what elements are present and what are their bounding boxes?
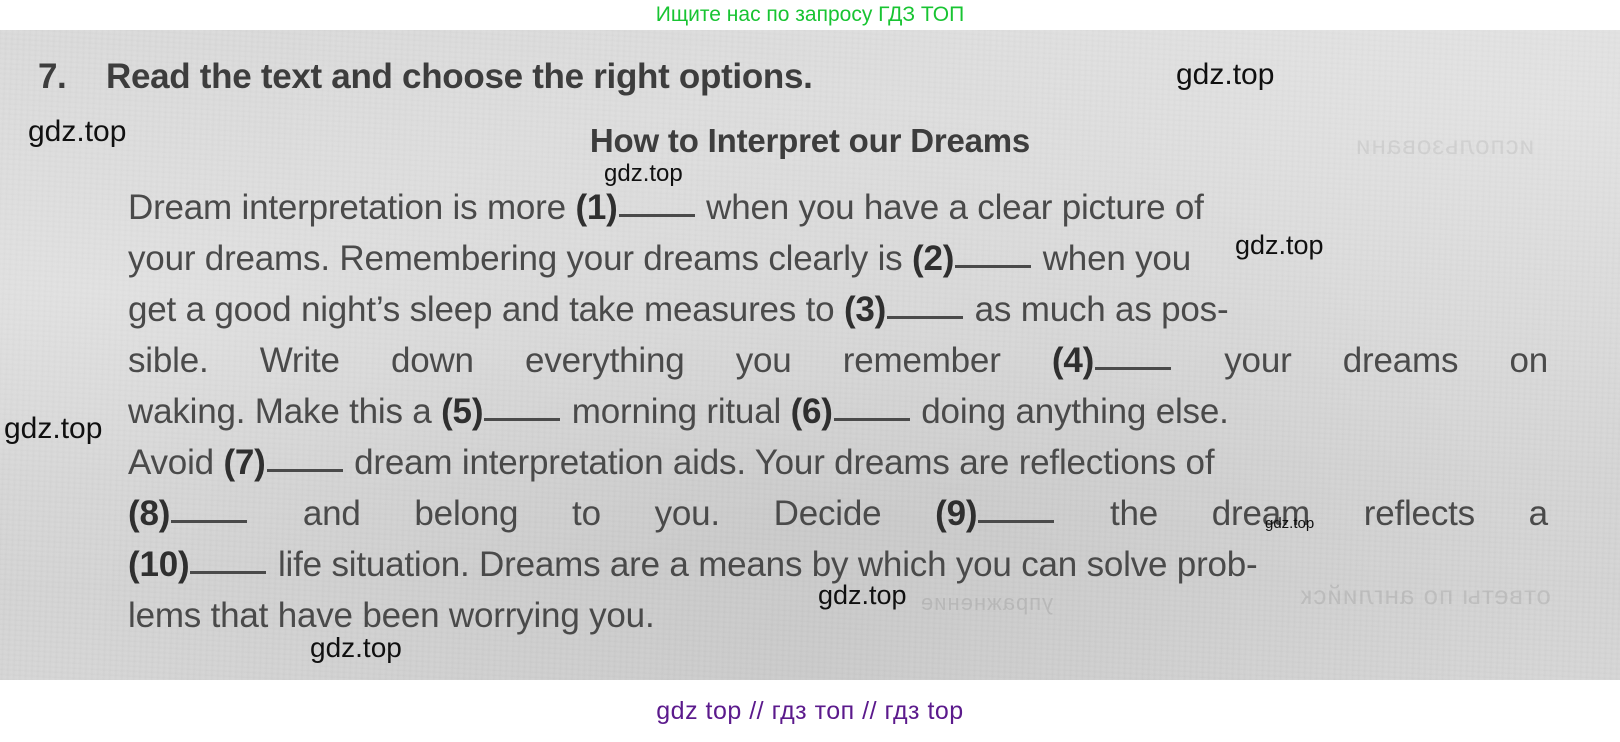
passage-token: dreams <box>1343 335 1459 386</box>
passage-line: get a good night’s sleep and take measur… <box>128 284 1548 335</box>
passage-line: (10) life situation. Dreams are a means … <box>128 539 1548 590</box>
passage-token: belong <box>414 488 518 539</box>
gap-number-label: (9) <box>935 494 977 533</box>
passage-token: get a good night’s sleep and take measur… <box>128 290 844 329</box>
gap-number-label: (2) <box>912 239 954 278</box>
passage-token: Avoid <box>128 443 223 482</box>
answer-blank[interactable] <box>834 418 910 421</box>
passage-token: dream interpretation aids. Your dreams a… <box>345 443 1215 482</box>
passage-line: your dreams. Remembering your dreams cle… <box>128 233 1548 284</box>
passage-line: Avoid (7) dream interpretation aids. You… <box>128 437 1548 488</box>
passage-token: everything <box>525 335 684 386</box>
passage-token: a <box>1529 488 1548 539</box>
gap-number: (9) <box>935 488 1056 539</box>
passage-token: waking. Make this a <box>128 392 441 431</box>
passage-token: when you <box>1033 239 1191 278</box>
passage-token: when you have a clear picture of <box>697 188 1204 227</box>
exercise-header: 7. Read the text and choose the right op… <box>38 57 813 97</box>
passage-token: Decide <box>774 488 882 539</box>
passage-token: sible. <box>128 335 209 386</box>
gap-number-label: (1) <box>575 188 617 227</box>
scanned-page-area: использовани ответы по английск упражнен… <box>0 30 1620 680</box>
passage-token: you <box>736 335 792 386</box>
answer-blank[interactable] <box>955 265 1031 268</box>
passage-line: sible.Writedowneverythingyouremember(4)y… <box>128 335 1548 386</box>
passage-token: Dream interpretation is more <box>128 188 575 227</box>
passage-token: remember <box>843 335 1001 386</box>
passage-token: Write <box>260 335 340 386</box>
gap-number-label: (3) <box>844 290 886 329</box>
reading-text-title: How to Interpret our Dreams <box>0 122 1620 160</box>
promo-banner-bottom: gdz top // гдз топ // гдз top <box>0 680 1620 736</box>
watermark-gdz-top: gdz.top <box>1176 58 1274 92</box>
gap-number-label: (6) <box>791 392 833 431</box>
passage-token: doing anything else. <box>912 392 1229 431</box>
passage-token: morning ritual <box>562 392 790 431</box>
gap-number-label: (8) <box>128 494 170 533</box>
passage-line: waking. Make this a (5) morning ritual (… <box>128 386 1548 437</box>
passage-line: (8)andbelongtoyou.Decide(9)thedreamrefle… <box>128 488 1548 539</box>
passage-line: Dream interpretation is more (1) when yo… <box>128 182 1548 233</box>
passage-token: life situation. Dreams are a means by wh… <box>268 545 1257 584</box>
answer-blank[interactable] <box>887 316 963 319</box>
answer-blank[interactable] <box>190 571 266 574</box>
passage-token: as much as pos- <box>965 290 1228 329</box>
cloze-passage: Dream interpretation is more (1) when yo… <box>128 182 1548 641</box>
passage-token: dream <box>1212 488 1310 539</box>
answer-blank[interactable] <box>171 520 247 523</box>
answer-blank[interactable] <box>978 520 1054 523</box>
passage-token: your dreams. Remembering your dreams cle… <box>128 239 912 278</box>
gap-number: (4) <box>1052 335 1173 386</box>
passage-token: you. <box>655 488 720 539</box>
gap-number-label: (10) <box>128 545 189 584</box>
gap-number-label: (4) <box>1052 341 1094 380</box>
textbook-page-screenshot: Ищите нас по запросу ГДЗ ТОП использован… <box>0 0 1620 736</box>
passage-token: lems that have been worrying you. <box>128 596 654 635</box>
answer-blank[interactable] <box>619 214 695 217</box>
gap-number: (8) <box>128 488 249 539</box>
passage-line: lems that have been worrying you. <box>128 590 1548 641</box>
passage-token: on <box>1509 335 1548 386</box>
passage-token: and <box>303 488 361 539</box>
passage-token: your <box>1224 335 1291 386</box>
passage-token: reflects <box>1364 488 1475 539</box>
passage-token: down <box>391 335 474 386</box>
answer-blank[interactable] <box>484 418 560 421</box>
gap-number-label: (7) <box>223 443 265 482</box>
exercise-number: 7. <box>38 57 106 97</box>
answer-blank[interactable] <box>267 469 343 472</box>
promo-banner-top: Ищите нас по запросу ГДЗ ТОП <box>0 0 1620 30</box>
watermark-gdz-top: gdz.top <box>4 412 102 446</box>
answer-blank[interactable] <box>1095 367 1171 370</box>
exercise-instruction: Read the text and choose the right optio… <box>106 57 813 97</box>
passage-token: the <box>1110 488 1158 539</box>
gap-number-label: (5) <box>441 392 483 431</box>
passage-token: to <box>572 488 601 539</box>
